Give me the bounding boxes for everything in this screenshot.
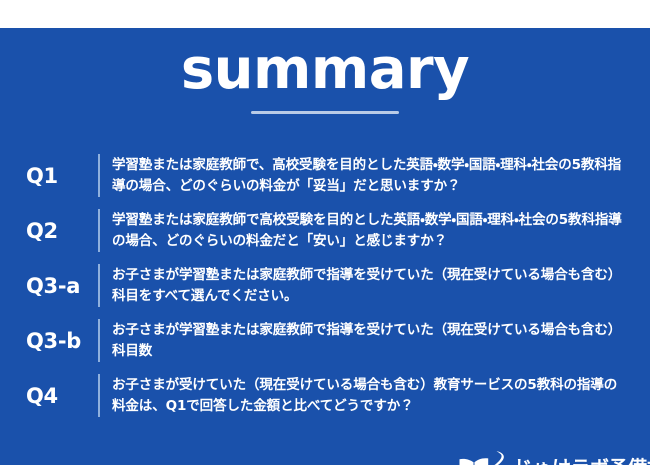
open-book-orbit-icon — [452, 446, 510, 465]
question-label-q4: Q4 — [22, 384, 98, 408]
question-row-q1: Q1 学習塾または家庭教師で、高校受験を目的とした英語・数学・国語・理科・社会の… — [22, 148, 628, 203]
page-title: summary — [0, 40, 650, 100]
question-row-q4: Q4 お子さまが受けていた（現在受けている場合も含む）教育サービスの5教科の指導… — [22, 368, 628, 423]
summary-slide: summary Q1 学習塾または家庭教師で、高校受験を目的とした英語・数学・国… — [0, 0, 650, 465]
question-label-q2: Q2 — [22, 219, 98, 243]
question-text-q2: 学習塾または家庭教師で高校受験を目的とした英語・数学・国語・理科・社会の5教科指… — [100, 210, 628, 252]
question-list: Q1 学習塾または家庭教師で、高校受験を目的とした英語・数学・国語・理科・社会の… — [22, 148, 628, 423]
question-text-q3a: お子さまが学習塾または家庭教師で指導を受けていた（現在受けている場合も含む）科目… — [100, 265, 628, 307]
question-row-q2: Q2 学習塾または家庭教師で高校受験を目的とした英語・数学・国語・理科・社会の5… — [22, 203, 628, 258]
brand-logo-text: じゅけラボ予備校 — [514, 453, 650, 465]
question-row-q3b: Q3-b お子さまが学習塾または家庭教師で指導を受けていた（現在受けている場合も… — [22, 313, 628, 368]
question-row-q3a: Q3-a お子さまが学習塾または家庭教師で指導を受けていた（現在受けている場合も… — [22, 258, 628, 313]
title-block: summary — [0, 40, 650, 114]
brand-logo: じゅけラボ予備校 — [452, 445, 638, 465]
question-text-q1: 学習塾または家庭教師で、高校受験を目的とした英語・数学・国語・理科・社会の5教科… — [100, 155, 628, 197]
question-text-q4: お子さまが受けていた（現在受けている場合も含む）教育サービスの5教科の指導の料金… — [100, 375, 628, 417]
question-label-q3a: Q3-a — [22, 274, 98, 298]
title-underline-divider — [251, 111, 399, 114]
blue-panel: summary Q1 学習塾または家庭教師で、高校受験を目的とした英語・数学・国… — [0, 28, 650, 465]
question-label-q1: Q1 — [22, 164, 98, 188]
question-label-q3b: Q3-b — [22, 329, 98, 353]
question-text-q3b: お子さまが学習塾または家庭教師で指導を受けていた（現在受けている場合も含む）科目… — [100, 320, 628, 362]
